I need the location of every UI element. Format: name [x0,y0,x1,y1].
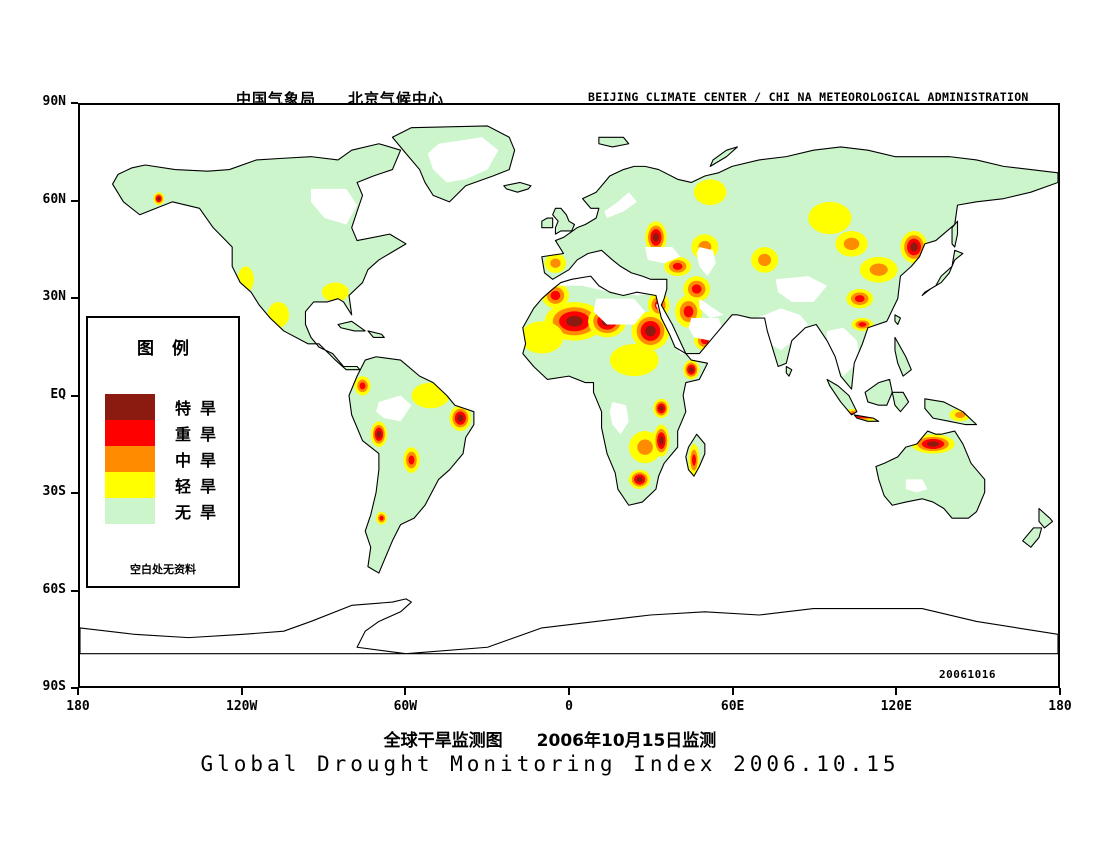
legend-item-mild-drought[interactable]: 轻旱 [105,472,225,498]
drought-region [694,179,727,205]
y-axis-label: 30N [30,289,66,304]
drought-region [153,192,164,205]
legend-swatch-moderate-drought [105,446,155,472]
x-axis-tick [895,688,897,695]
drought-region [808,202,851,234]
x-axis-tick [241,688,243,695]
legend-item-no-drought[interactable]: 无旱 [105,498,225,524]
legend-swatch-extreme-drought [105,394,155,420]
legend-swatch-no-drought [105,498,155,524]
drought-region [683,360,699,379]
y-axis-tick [71,590,78,592]
legend-label-extreme-drought: 特旱 [175,395,225,419]
x-axis-tick [732,688,734,695]
drought-region [403,447,419,473]
drought-region [545,253,567,272]
legend-label-mild-drought: 轻旱 [175,473,225,497]
y-axis-label: 60N [30,192,66,207]
x-axis-label: 120E [866,699,926,714]
drought-region [653,399,669,418]
y-axis-tick [71,297,78,299]
drought-region [520,321,563,353]
x-axis-label: 180 [1030,699,1090,714]
x-axis-label: 0 [539,699,599,714]
x-axis-label: 60W [375,699,435,714]
map-title-chinese: 全球干旱监测图 2006年10月15日监测 [0,726,1100,751]
drought-region [860,257,898,283]
x-axis-tick [1059,688,1061,695]
y-axis-tick [71,102,78,104]
drought-region [610,344,659,376]
x-axis-label: 180 [48,699,108,714]
x-axis-label: 120W [212,699,272,714]
legend-note: 空白处无资料 [88,561,238,577]
legend-swatch-severe-drought [105,420,155,446]
y-axis-tick [71,200,78,202]
drought-region [376,512,387,525]
y-axis-label: 60S [30,582,66,597]
drought-region [835,231,868,257]
y-axis-label: 90N [30,94,66,109]
legend-rows: 特旱重旱中旱轻旱无旱 [105,394,225,524]
legend-swatch-mild-drought [105,472,155,498]
y-axis-label: 30S [30,484,66,499]
legend-label-severe-drought: 重旱 [175,421,225,445]
drought-region [683,276,710,302]
agency-header-english: BEIJING CLIMATE CENTER / CHI NA METEOROL… [588,90,1029,104]
y-axis-tick [71,492,78,494]
drought-region [371,421,387,447]
y-axis-tick [71,395,78,397]
x-axis-tick [568,688,570,695]
drought-region [653,425,669,457]
drought-region [629,470,651,489]
legend-title: 图例 [88,334,238,359]
legend-label-moderate-drought: 中旱 [175,447,225,471]
x-axis-tick [404,688,406,695]
y-axis-label: 90S [30,679,66,694]
x-axis-tick [77,688,79,695]
legend-item-severe-drought[interactable]: 重旱 [105,420,225,446]
map-datestamp: 20061016 [939,668,996,681]
drought-region [354,376,370,395]
legend-item-moderate-drought[interactable]: 中旱 [105,446,225,472]
drought-region [846,289,873,308]
map-title-english: Global Drought Monitoring Index 2006.10.… [0,752,1100,776]
legend-item-extreme-drought[interactable]: 特旱 [105,394,225,420]
legend-box: 图例 特旱重旱中旱轻旱无旱 空白处无资料 [86,316,240,588]
legend-label-no-drought: 无旱 [175,499,225,523]
x-axis-label: 60E [703,699,763,714]
drought-region [751,247,778,273]
y-axis-label: EQ [30,387,66,402]
